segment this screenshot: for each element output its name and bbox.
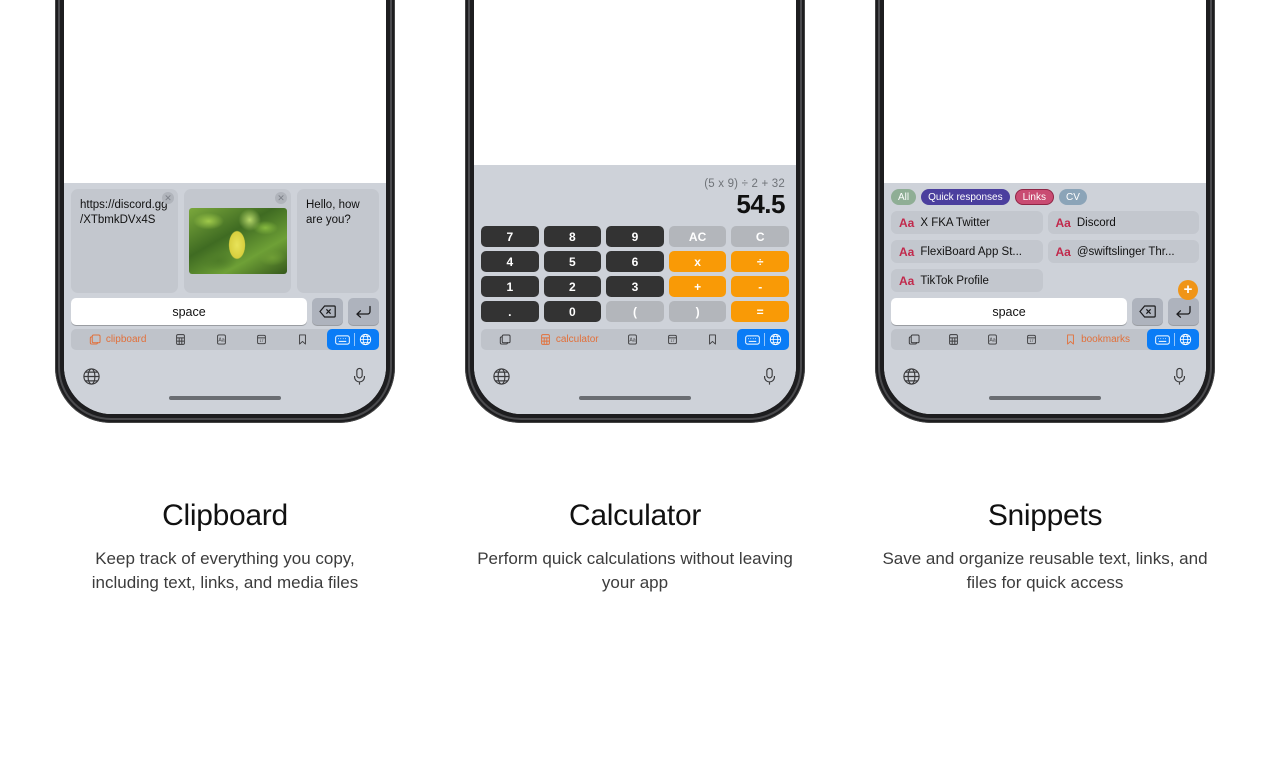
toolbar-item-bookmarks[interactable] — [296, 333, 309, 346]
snippet-category-chips: All Quick responses Links CV — [891, 189, 1199, 205]
clipboard-item-text: https://discord.gg/XTbmkDVx4S — [80, 198, 169, 228]
calc-key-minus[interactable]: - — [731, 276, 789, 297]
snippets-panel: All Quick responses Links CV Aa X FKA Tw… — [884, 183, 1206, 293]
chip-cv[interactable]: CV — [1059, 189, 1087, 205]
toolbar-item-snippets[interactable]: Aa — [215, 333, 228, 346]
system-row — [474, 356, 796, 396]
panel-clipboard: ✕ https://discord.gg/XTbmkDVx4S ✕ Hello, — [20, 0, 430, 595]
calc-key-plus[interactable]: + — [669, 276, 727, 297]
svg-text:17: 17 — [671, 339, 675, 343]
calc-key-0[interactable]: 0 — [544, 301, 602, 322]
aa-icon: Aa — [899, 245, 914, 259]
divider — [764, 333, 765, 346]
toolbar-item-date[interactable]: 17 — [666, 333, 679, 346]
return-key[interactable] — [1168, 298, 1199, 325]
caption-snippets: Snippets Save and organize reusable text… — [880, 499, 1210, 595]
feature-description: Keep track of everything you copy, inclu… — [60, 547, 390, 595]
globe-icon — [359, 333, 372, 346]
toolbar-item-snippets[interactable]: Aa — [626, 333, 639, 346]
phone-screen: ✕ https://discord.gg/XTbmkDVx4S ✕ Hello, — [64, 0, 386, 414]
chip-quick-responses[interactable]: Quick responses — [921, 189, 1009, 205]
keyboard: (5 x 9) ÷ 2 + 32 54.5 7 8 9 AC C 4 — [474, 165, 796, 414]
phone-mockup-clipboard: ✕ https://discord.gg/XTbmkDVx4S ✕ Hello, — [55, 138, 395, 423]
calculator-keypad: 7 8 9 AC C 4 5 6 x ÷ — [481, 226, 789, 322]
globe-icon — [769, 333, 782, 346]
phone-screen: (5 x 9) ÷ 2 + 32 54.5 7 8 9 AC C 4 — [474, 0, 796, 414]
keyboard-toolbar: calculator Aa — [481, 329, 789, 350]
snippet-label: FlexiBoard App St... — [920, 246, 1022, 258]
clipboard-item-image[interactable]: ✕ — [184, 189, 291, 293]
calc-key-multiply[interactable]: x — [669, 251, 727, 272]
calc-key-equals[interactable]: = — [731, 301, 789, 322]
keyboard: All Quick responses Links CV Aa X FKA Tw… — [884, 183, 1206, 414]
backspace-key[interactable] — [312, 298, 343, 325]
caption-calculator: Calculator Perform quick calculations wi… — [470, 499, 800, 595]
svg-text:Aa: Aa — [629, 337, 635, 343]
toolbar-item-bookmarks[interactable] — [706, 333, 719, 346]
feature-title: Calculator — [470, 499, 800, 533]
space-row: space — [884, 293, 1206, 329]
phone-frame: ✕ https://discord.gg/XTbmkDVx4S ✕ Hello, — [55, 0, 395, 423]
calculator-display: (5 x 9) ÷ 2 + 32 54.5 — [481, 171, 789, 223]
snippet-item[interactable]: Aa Discord — [1048, 211, 1200, 234]
snippet-item[interactable]: Aa FlexiBoard App St... — [891, 240, 1043, 263]
toolbar-item-calculator[interactable] — [174, 333, 187, 346]
calc-key-ac[interactable]: AC — [669, 226, 727, 247]
keyboard-icon — [1155, 334, 1170, 346]
snippet-list: Aa X FKA Twitter Aa Discord Aa — [891, 211, 1199, 293]
keyboard-toolbar: Aa 17 — [891, 329, 1199, 350]
feature-description: Save and organize reusable text, links, … — [880, 547, 1210, 595]
feature-panels: ✕ https://discord.gg/XTbmkDVx4S ✕ Hello, — [0, 0, 1270, 760]
feature-description: Perform quick calculations without leavi… — [470, 547, 800, 595]
toolbar-items: calculator Aa — [481, 329, 737, 350]
toolbar-item-snippets[interactable]: Aa — [986, 333, 999, 346]
calc-key-8[interactable]: 8 — [544, 226, 602, 247]
keyboard-icon — [335, 334, 350, 346]
aa-icon: Aa — [1056, 216, 1071, 230]
toolbar-item-bookmarks[interactable]: bookmarks — [1064, 333, 1130, 346]
clipboard-item-link[interactable]: ✕ https://discord.gg/XTbmkDVx4S — [71, 189, 178, 293]
clipboard-image-thumbnail — [189, 208, 287, 274]
phone-mockup-snippets: All Quick responses Links CV Aa X FKA Tw… — [875, 138, 1215, 423]
feature-title: Clipboard — [60, 499, 390, 533]
toolbar-keyboard-globe-group[interactable] — [1147, 329, 1199, 350]
snippet-item[interactable]: Aa @swiftslinger Thr... — [1048, 240, 1200, 263]
toolbar-item-clipboard[interactable] — [908, 333, 921, 346]
toolbar-item-clipboard[interactable] — [499, 333, 512, 346]
add-snippet-button[interactable]: + — [1178, 280, 1198, 300]
calculator-panel: (5 x 9) ÷ 2 + 32 54.5 7 8 9 AC C 4 — [474, 165, 796, 322]
backspace-key[interactable] — [1132, 298, 1163, 325]
toolbar-active-label: calculator — [556, 334, 599, 345]
close-icon[interactable]: ✕ — [162, 192, 174, 204]
toolbar-keyboard-globe-group[interactable] — [327, 329, 379, 350]
panel-snippets: All Quick responses Links CV Aa X FKA Tw… — [840, 0, 1250, 595]
svg-text:Aa: Aa — [218, 337, 224, 343]
clipboard-items: ✕ https://discord.gg/XTbmkDVx4S ✕ Hello, — [71, 189, 379, 293]
snippet-label: Discord — [1077, 217, 1116, 229]
phone-screen: All Quick responses Links CV Aa X FKA Tw… — [884, 0, 1206, 414]
snippet-item[interactable]: Aa X FKA Twitter — [891, 211, 1043, 234]
snippet-item-empty — [1048, 269, 1200, 292]
clipboard-panel: ✕ https://discord.gg/XTbmkDVx4S ✕ Hello, — [64, 183, 386, 293]
spacebar-key[interactable]: space — [71, 298, 307, 325]
globe-icon[interactable] — [902, 367, 921, 386]
spacebar-key[interactable]: space — [891, 298, 1127, 325]
calc-key-2[interactable]: 2 — [544, 276, 602, 297]
toolbar-keyboard-globe-group[interactable] — [737, 329, 789, 350]
globe-icon[interactable] — [82, 367, 101, 386]
toolbar-active-label: clipboard — [106, 334, 147, 345]
phone-mockup-calculator: (5 x 9) ÷ 2 + 32 54.5 7 8 9 AC C 4 — [465, 138, 805, 423]
toolbar-item-calculator[interactable] — [947, 333, 960, 346]
snippet-label: @swiftslinger Thr... — [1077, 246, 1175, 258]
clipboard-item-text: Hello, how are you? — [306, 198, 370, 228]
calc-key-paren-open[interactable]: ( — [606, 301, 664, 322]
microphone-icon[interactable] — [1171, 367, 1188, 386]
chip-all[interactable]: All — [891, 189, 916, 205]
keyboard-toolbar: clipboard — [71, 329, 379, 350]
toolbar-item-date[interactable]: 17 — [255, 333, 268, 346]
screenshot-root: ✕ https://discord.gg/XTbmkDVx4S ✕ Hello, — [0, 0, 1270, 760]
snippet-label: X FKA Twitter — [920, 217, 989, 229]
clipboard-item-message[interactable]: Hello, how are you? — [297, 189, 379, 293]
caption-clipboard: Clipboard Keep track of everything you c… — [60, 499, 390, 595]
toolbar-item-clipboard[interactable]: clipboard — [89, 333, 147, 346]
phone-frame: (5 x 9) ÷ 2 + 32 54.5 7 8 9 AC C 4 — [465, 0, 805, 423]
aa-icon: Aa — [899, 216, 914, 230]
home-indicator — [884, 396, 1206, 414]
toolbar-item-calculator[interactable]: calculator — [539, 333, 599, 346]
close-icon[interactable]: ✕ — [275, 192, 287, 204]
svg-text:17: 17 — [1030, 339, 1034, 343]
toolbar-items: clipboard — [71, 329, 327, 350]
svg-text:Aa: Aa — [989, 337, 995, 343]
calc-key-divide[interactable]: ÷ — [731, 251, 789, 272]
calc-key-7[interactable]: 7 — [481, 226, 539, 247]
system-row — [64, 356, 386, 396]
calc-key-5[interactable]: 5 — [544, 251, 602, 272]
calc-key-paren-close[interactable]: ) — [669, 301, 727, 322]
home-indicator — [64, 396, 386, 414]
return-key[interactable] — [348, 298, 379, 325]
calc-key-decimal[interactable]: . — [481, 301, 539, 322]
keyboard: ✕ https://discord.gg/XTbmkDVx4S ✕ Hello, — [64, 183, 386, 414]
microphone-icon[interactable] — [351, 367, 368, 386]
calc-key-c[interactable]: C — [731, 226, 789, 247]
chip-links[interactable]: Links — [1015, 189, 1054, 205]
globe-icon — [1179, 333, 1192, 346]
aa-icon: Aa — [1056, 245, 1071, 259]
space-row: space — [64, 293, 386, 329]
calculator-result: 54.5 — [481, 190, 785, 219]
panel-calculator: (5 x 9) ÷ 2 + 32 54.5 7 8 9 AC C 4 — [430, 0, 840, 595]
calc-key-4[interactable]: 4 — [481, 251, 539, 272]
keyboard-icon — [745, 334, 760, 346]
feature-title: Snippets — [880, 499, 1210, 533]
snippet-item[interactable]: Aa TikTok Profile — [891, 269, 1043, 292]
calc-key-1[interactable]: 1 — [481, 276, 539, 297]
aa-icon: Aa — [899, 274, 914, 288]
home-indicator — [474, 396, 796, 414]
calc-key-3[interactable]: 3 — [606, 276, 664, 297]
divider — [354, 333, 355, 346]
calc-key-6[interactable]: 6 — [606, 251, 664, 272]
divider — [1174, 333, 1175, 346]
snippet-label: TikTok Profile — [920, 275, 989, 287]
toolbar-item-date[interactable]: 17 — [1025, 333, 1038, 346]
phone-frame: All Quick responses Links CV Aa X FKA Tw… — [875, 0, 1215, 423]
microphone-icon[interactable] — [761, 367, 778, 386]
calc-key-9[interactable]: 9 — [606, 226, 664, 247]
globe-icon[interactable] — [492, 367, 511, 386]
toolbar-active-label: bookmarks — [1081, 334, 1130, 345]
svg-text:17: 17 — [260, 339, 264, 343]
system-row — [884, 356, 1206, 396]
toolbar-items: Aa 17 — [891, 329, 1147, 350]
